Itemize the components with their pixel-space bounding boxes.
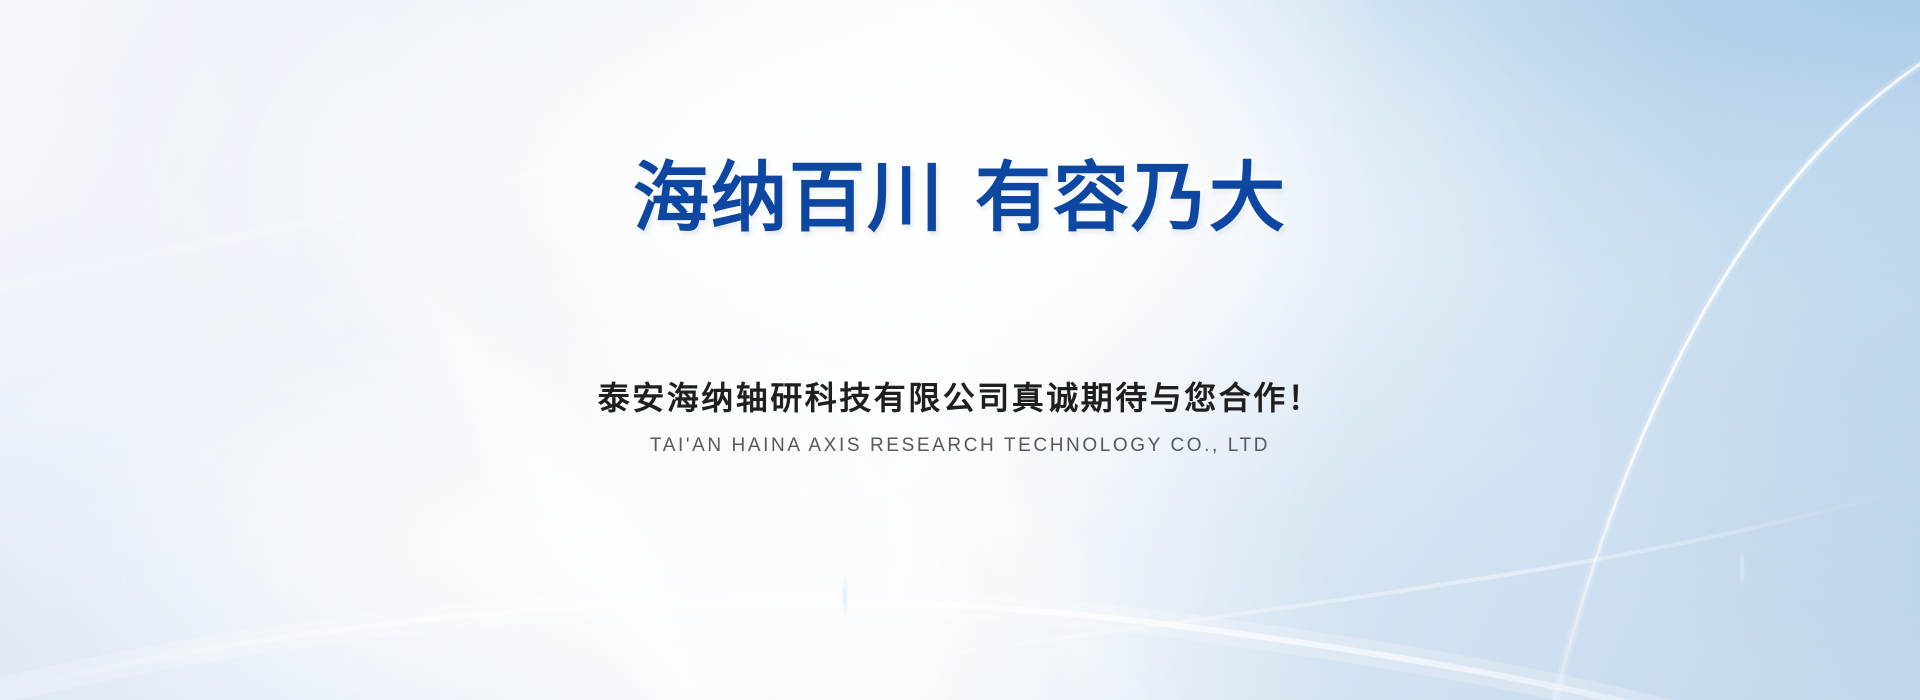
banner-headline: 海纳百川有容乃大 — [0, 158, 1920, 240]
headline-part-2: 有容乃大 — [975, 156, 1287, 241]
banner-content: 海纳百川有容乃大 泰安海纳轴研科技有限公司真诚期待与您合作！ TAI'AN HA… — [0, 0, 1920, 700]
banner-subtitle-cn: 泰安海纳轴研科技有限公司真诚期待与您合作！ — [0, 378, 1920, 418]
banner-subtitle-en: TAI'AN HAINA AXIS RESEARCH TECHNOLOGY CO… — [0, 434, 1920, 459]
headline-part-1: 海纳百川 — [633, 156, 945, 241]
hero-banner: 海纳百川有容乃大 泰安海纳轴研科技有限公司真诚期待与您合作！ TAI'AN HA… — [0, 0, 1920, 700]
